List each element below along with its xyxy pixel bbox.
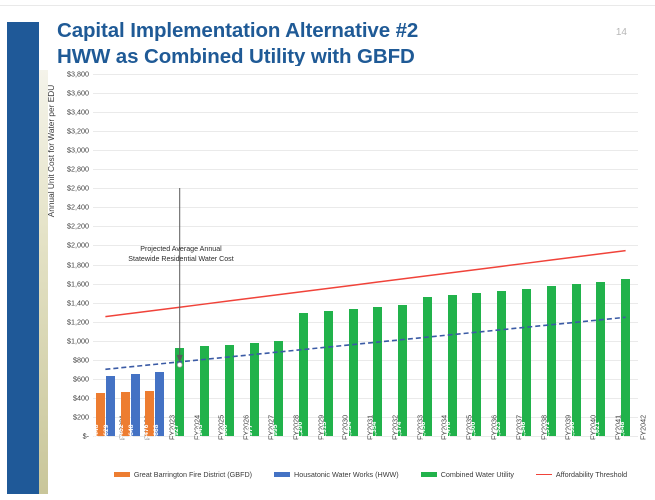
bar: $943: [200, 346, 209, 436]
y-axis-tick: $3,000: [67, 146, 89, 155]
top-divider: [0, 5, 655, 6]
bar-value-label: $977: [247, 424, 254, 439]
bar-value-label: $1,374: [396, 422, 403, 443]
bar: $1,334: [349, 309, 358, 436]
annotation-line-1: Projected Average Annual: [106, 244, 256, 254]
bar-value-label: $1,523: [495, 422, 502, 443]
bar-group: $995FY2028: [266, 74, 291, 436]
y-axis-tick: $3,800: [67, 70, 89, 79]
bar-group: $1,571FY2039: [539, 74, 564, 436]
bar-group: $1,500FY2036: [465, 74, 490, 436]
bar: $1,596: [572, 284, 581, 436]
bar-value-label: $1,596: [569, 422, 576, 443]
annotation-callout: Projected Average Annual Statewide Resid…: [106, 244, 256, 265]
bar-value-label: $1,621: [594, 422, 601, 443]
bar-value-label: $927: [173, 424, 180, 439]
bar: $1,500: [472, 293, 481, 436]
y-axis-tick: $2,800: [67, 165, 89, 174]
y-axis-tick: $800: [73, 355, 89, 364]
bar-value-label: $1,546: [520, 422, 527, 443]
bar: $1,648: [621, 279, 630, 436]
bar: $1,354: [373, 307, 382, 436]
legend-item[interactable]: Affordability Threshold: [536, 470, 627, 479]
y-axis-tick: $1,800: [67, 260, 89, 269]
legend-item[interactable]: Combined Water Utility: [421, 470, 514, 479]
legend-item[interactable]: Great Barrington Fire District (GBFD): [114, 470, 252, 479]
y-axis-tick: $1,600: [67, 279, 89, 288]
bar-value-label: $1,571: [544, 422, 551, 443]
bar-value-label: $1,290: [297, 422, 304, 443]
bar-group: $1,621FY2041: [588, 74, 613, 436]
y-axis-tick: $2,600: [67, 184, 89, 193]
bar-value-label: $960: [222, 424, 229, 439]
bar-group: $1,354FY2032: [366, 74, 391, 436]
bar: $629: [106, 376, 115, 436]
y-axis-tick: $200: [73, 412, 89, 421]
y-axis-tick: $1,200: [67, 317, 89, 326]
y-axis-tick: $2,000: [67, 241, 89, 250]
y-axis-tick: $3,200: [67, 127, 89, 136]
bar-value-label: $1,315: [321, 422, 328, 443]
legend-swatch: [274, 472, 290, 477]
bar: $1,478: [448, 295, 457, 436]
bar-value-label: $629: [103, 424, 110, 439]
y-axis-label: Annual Unit Cost for Water per EDU: [46, 66, 56, 236]
y-axis-tick: $2,400: [67, 203, 89, 212]
bar-group: $1,456FY2034: [415, 74, 440, 436]
bar: $648: [131, 374, 140, 436]
bar-group: $1,334FY2031: [341, 74, 366, 436]
legend-label: Great Barrington Fire District (GBFD): [134, 470, 252, 479]
bar-group: $1,546FY2038: [514, 74, 539, 436]
bar-group: $1,290FY2029: [291, 74, 316, 436]
bar: $995: [274, 341, 283, 436]
annotation-line-2: Statewide Residential Water Cost: [106, 254, 256, 264]
bar-value-label: $1,334: [346, 422, 353, 443]
bar-value-label: $476: [143, 424, 150, 439]
bar-value-label: $668: [153, 424, 160, 439]
legend-label: Affordability Threshold: [556, 470, 627, 479]
chart-container: Annual Unit Cost for Water per EDU $-$20…: [48, 66, 648, 494]
slide-canvas: Capital Implementation Alternative #2 HW…: [0, 0, 655, 500]
bar: $668: [155, 372, 164, 436]
bar-value-label: $462: [118, 424, 125, 439]
bar: $1,456: [423, 297, 432, 436]
y-axis-tick: $2,200: [67, 222, 89, 231]
page-title: Capital Implementation Alternative #2 HW…: [57, 18, 557, 70]
bar-value-label: $1,500: [470, 422, 477, 443]
y-axis-tick: $1,400: [67, 298, 89, 307]
bar-value-label: $1,354: [371, 422, 378, 443]
bar-group: $1,315FY2030: [316, 74, 341, 436]
bar: $1,621: [596, 282, 605, 436]
left-accent-band: [7, 22, 39, 494]
bar-value-label: $448: [93, 424, 100, 439]
bar-value-label: $995: [272, 424, 279, 439]
bar-value-label: $648: [128, 424, 135, 439]
bar-group: $1,374FY2033: [390, 74, 415, 436]
bar: $1,523: [497, 291, 506, 436]
y-axis-tick: $600: [73, 374, 89, 383]
legend-label: Combined Water Utility: [441, 470, 514, 479]
bar: $977: [250, 343, 259, 436]
legend-swatch: [114, 472, 130, 477]
y-axis-tick: $3,400: [67, 108, 89, 117]
bar-group: $1,596FY2040: [564, 74, 589, 436]
bar-group: $1,523FY2037: [489, 74, 514, 436]
y-axis-tick: $1,000: [67, 336, 89, 345]
bar-group: $1,478FY2035: [440, 74, 465, 436]
bar: $1,546: [522, 289, 531, 436]
bar-value-label: $943: [197, 424, 204, 439]
bar-value-label: $1,456: [420, 422, 427, 443]
bar-value-label: $1,478: [445, 422, 452, 443]
y-axis-tick: $3,600: [67, 89, 89, 98]
bar-value-label: $1,648: [619, 422, 626, 443]
bar: $927: [175, 348, 184, 436]
bar: $1,571: [547, 286, 556, 436]
legend-swatch: [421, 472, 437, 477]
bar: $1,315: [324, 311, 333, 436]
bar: $1,374: [398, 305, 407, 436]
y-axis-tick: $-: [83, 432, 89, 441]
bar-group: $1,648FY2042: [613, 74, 638, 436]
bar: $960: [225, 345, 234, 436]
y-axis-tick: $400: [73, 393, 89, 402]
title-line-1: Capital Implementation Alternative #2: [57, 19, 418, 42]
x-axis-tick: FY2042: [638, 415, 647, 440]
slide-number: 14: [616, 27, 627, 38]
legend-swatch: [536, 474, 552, 476]
legend-item[interactable]: Housatonic Water Works (HWW): [274, 470, 399, 479]
legend-label: Housatonic Water Works (HWW): [294, 470, 399, 479]
chart-legend: Great Barrington Fire District (GBFD)Hou…: [93, 470, 648, 479]
bar: $1,290: [299, 313, 308, 436]
